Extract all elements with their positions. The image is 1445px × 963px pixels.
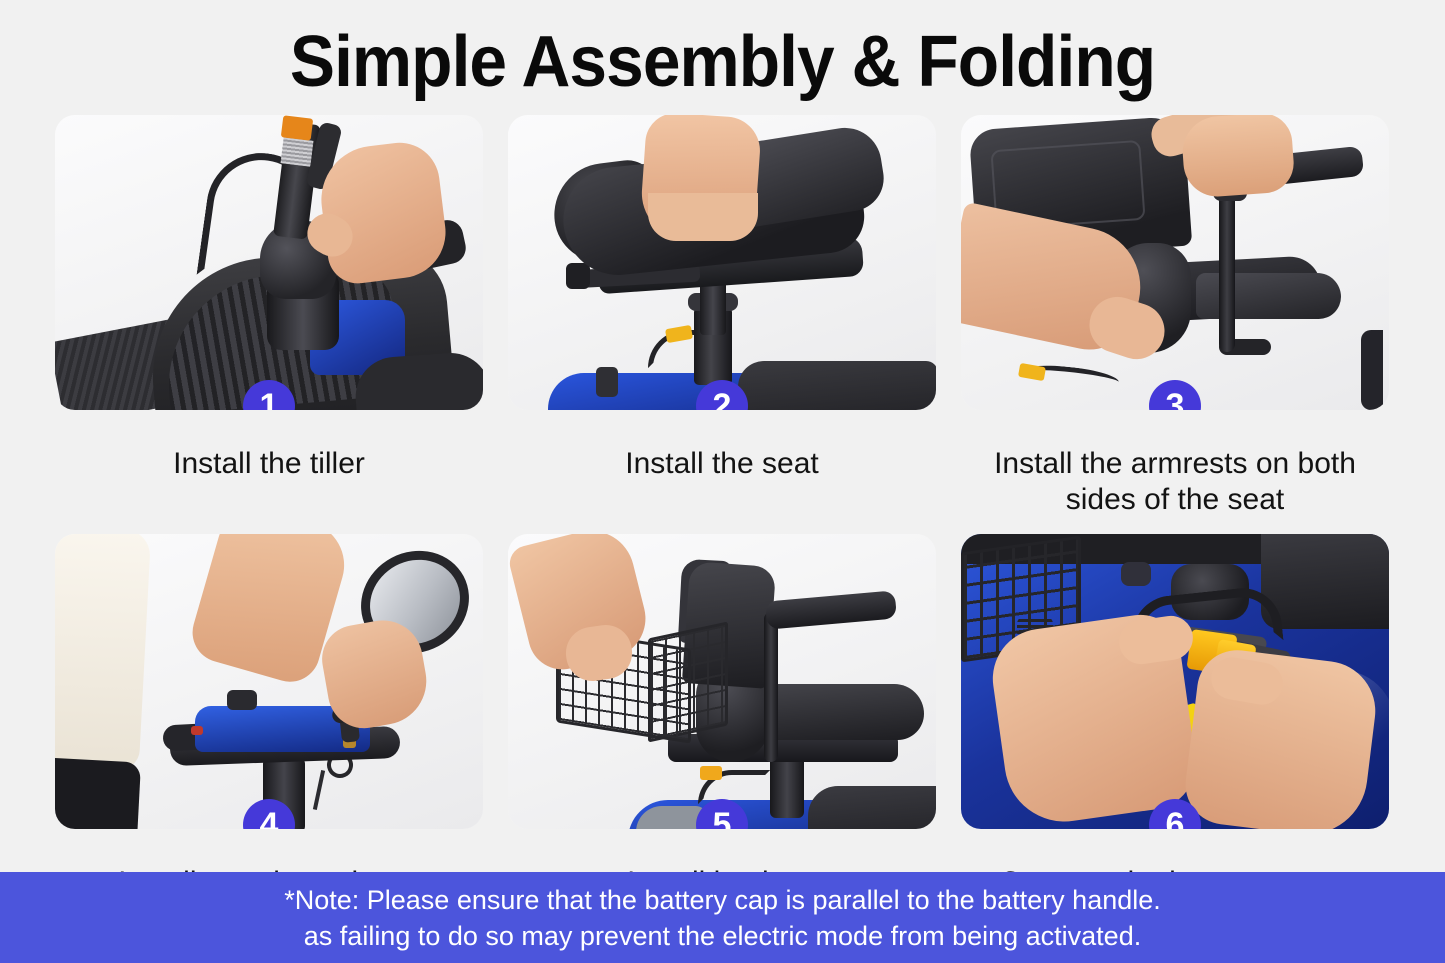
note-line-2: as failing to do so may prevent the elec… xyxy=(304,918,1141,954)
page-title: Simple Assembly & Folding xyxy=(43,0,1401,110)
scene-install-armrests xyxy=(961,115,1389,410)
assembly-steps-grid: 1 Install the tiller xyxy=(55,115,1390,937)
scene-install-seat xyxy=(508,115,936,410)
scene-connect-battery-cable xyxy=(961,534,1389,829)
step-caption-2: Install the seat xyxy=(508,446,936,482)
step-photo-1: 1 xyxy=(55,115,483,410)
step-photo-5: 5 xyxy=(508,534,936,829)
step-photo-3: 3 xyxy=(961,115,1389,410)
step-caption-1: Install the tiller xyxy=(55,446,483,482)
step-photo-4: 4 xyxy=(55,534,483,829)
step-photo-2: 2 xyxy=(508,115,936,410)
scene-install-baskets xyxy=(508,534,936,829)
step-card-2: 2 Install the seat xyxy=(508,115,936,518)
step-card-1: 1 Install the tiller xyxy=(55,115,483,518)
scene-install-mirrors xyxy=(55,534,483,829)
step-caption-3: Install the armrests on both sides of th… xyxy=(961,446,1389,518)
note-bar: *Note: Please ensure that the battery ca… xyxy=(0,872,1445,963)
note-line-1: *Note: Please ensure that the battery ca… xyxy=(284,882,1161,918)
scene-install-tiller xyxy=(55,115,483,410)
step-card-3: 3 Install the armrests on both sides of … xyxy=(961,115,1389,518)
step-photo-6: 6 xyxy=(961,534,1389,829)
